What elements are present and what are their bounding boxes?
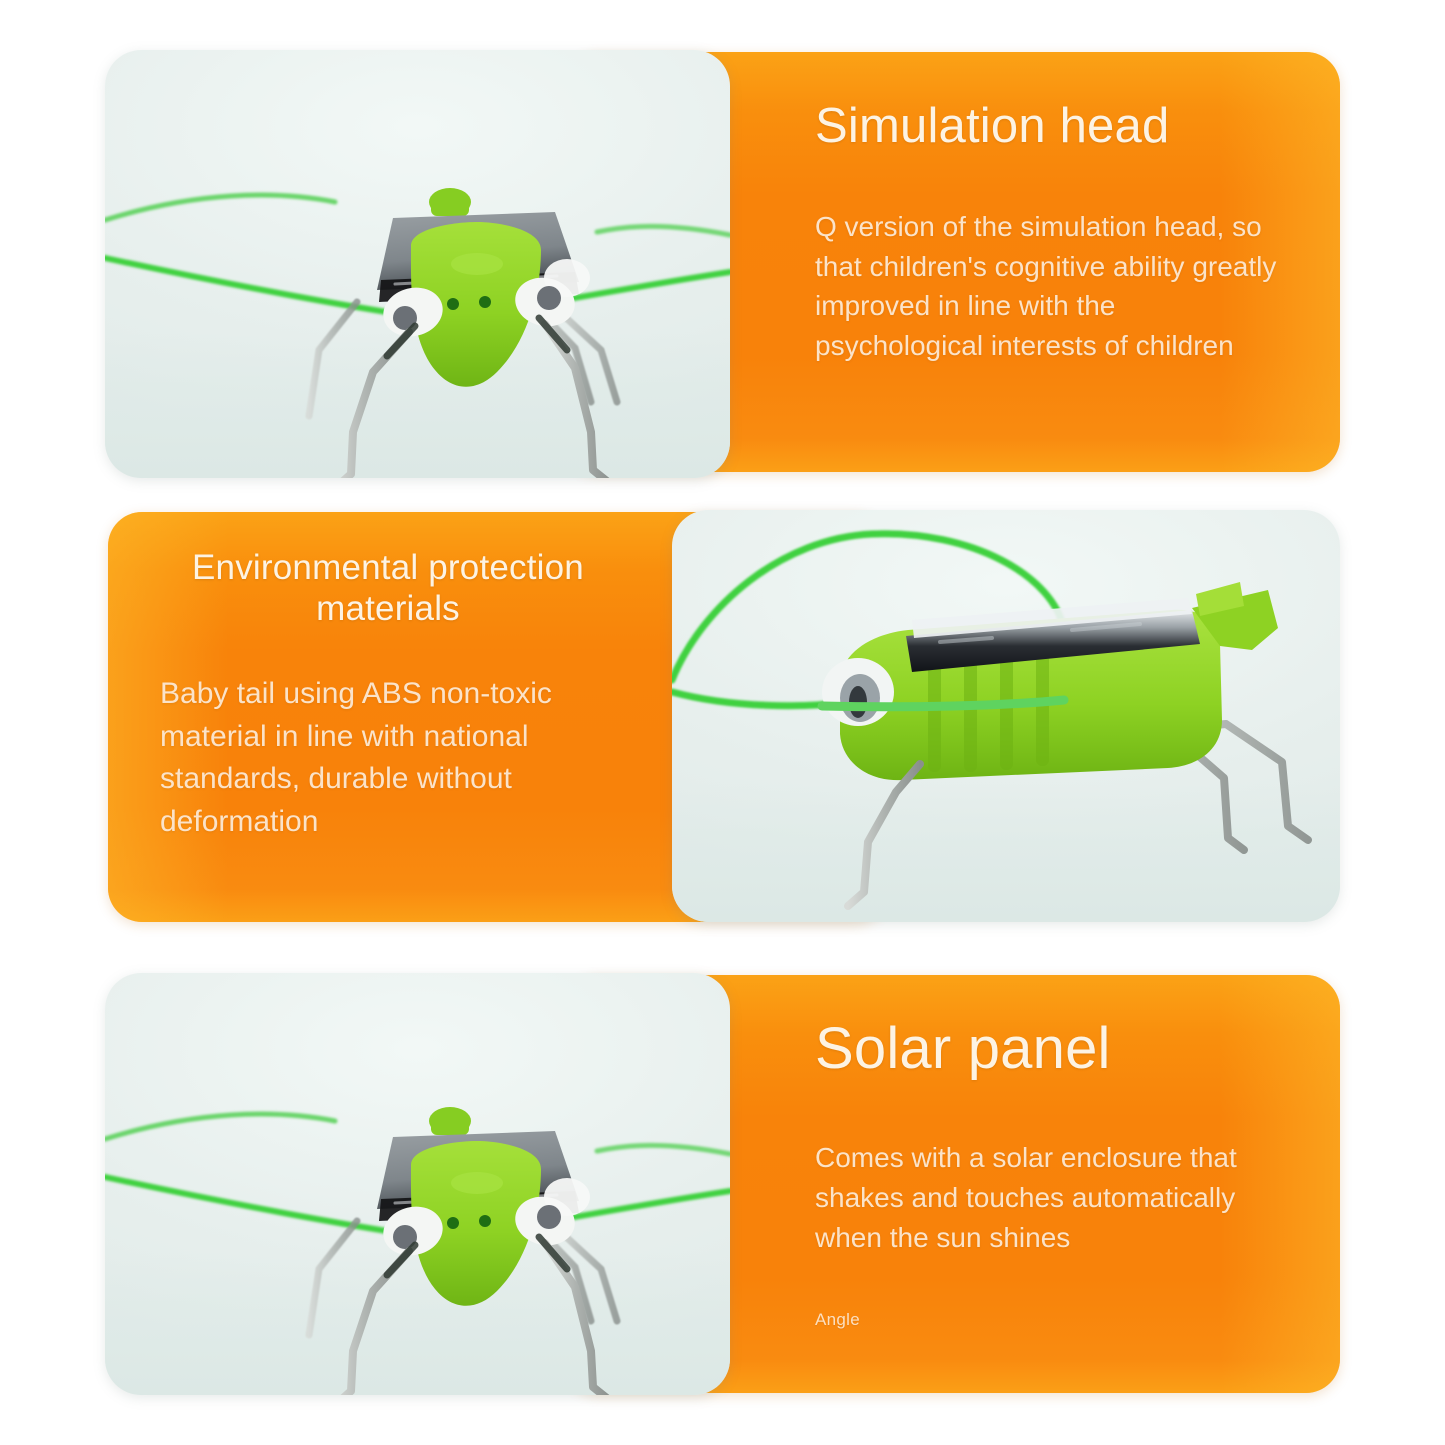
product-photo-environmental-protection-materials (672, 510, 1340, 922)
product-photo-simulation-head (105, 50, 730, 478)
grasshopper-front-icon (105, 50, 730, 478)
panel-note-angle: Angle (815, 1310, 1280, 1330)
panel-body-simulation-head: Q version of the simulation head, so tha… (815, 207, 1278, 366)
panel-title-solar-panel: Solar panel (815, 1015, 1280, 1082)
panel-body-environmental-protection-materials: Baby tail using ABS non-toxic material i… (160, 673, 620, 843)
panel-title-simulation-head: Simulation head (815, 98, 1278, 155)
grasshopper-front-icon (105, 973, 730, 1395)
feature-panel-simulation-head: Simulation head Q version of the simulat… (0, 0, 1445, 500)
product-photo-solar-panel (105, 973, 730, 1395)
grasshopper-side-icon (672, 510, 1340, 922)
panel-title-environmental-protection-materials: Environmental protection materials (160, 548, 620, 629)
feature-panel-environmental-protection-materials: Environmental protection materials Baby … (0, 500, 1445, 940)
toy-legs (848, 764, 920, 906)
panel-body-solar-panel: Comes with a solar enclosure that shakes… (815, 1138, 1280, 1257)
infographic-page: Simulation head Q version of the simulat… (0, 0, 1445, 1445)
feature-panel-solar-panel: Solar panel Comes with a solar enclosure… (0, 940, 1445, 1445)
